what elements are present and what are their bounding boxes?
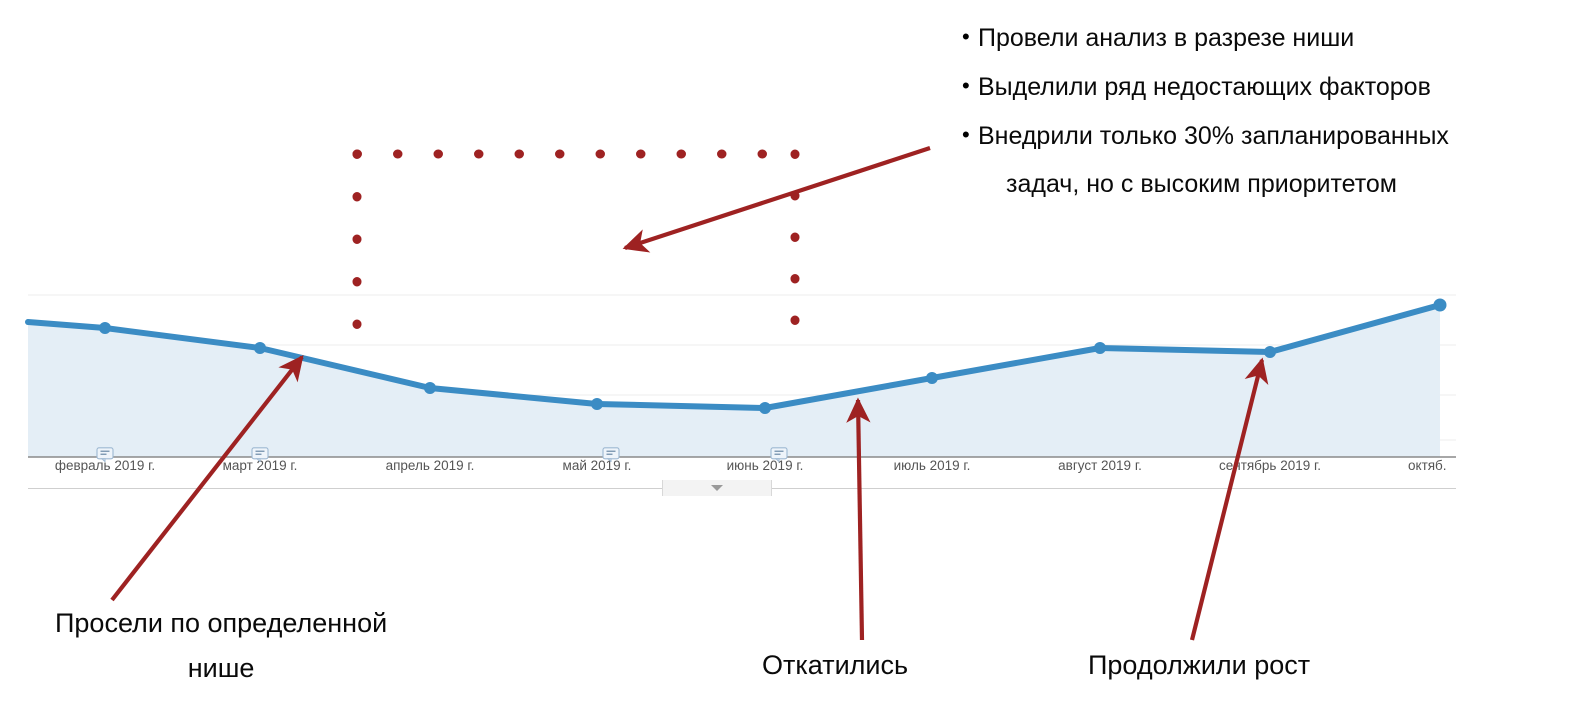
- caption-left-line2: нише: [55, 653, 387, 684]
- bullet-dot-icon: •: [962, 22, 978, 52]
- comment-marker-icon[interactable]: [602, 447, 621, 462]
- comment-marker-icon[interactable]: [96, 447, 115, 462]
- axis-tick-label-september: сентябрь 2019 г.: [1219, 458, 1321, 473]
- bullet-text-wrap: Внедрили только 30% запланированных зада…: [978, 120, 1449, 200]
- bullet-text: Внедрили только 30% запланированных: [978, 122, 1449, 150]
- bullet-text: Выделили ряд недостающих факторов: [978, 71, 1431, 103]
- arrow-to-bracket: [625, 148, 930, 248]
- data-point[interactable]: [1434, 299, 1447, 312]
- slide-root: • Провели анализ в разрезе ниши • Выдели…: [0, 0, 1570, 725]
- caption-middle: Откатились: [762, 650, 908, 681]
- axis-tick-label-july: июль 2019 г.: [894, 458, 971, 473]
- axis-tick-label-august: август 2019 г.: [1058, 458, 1142, 473]
- comment-marker-icon[interactable]: [251, 447, 270, 462]
- comment-marker-icon[interactable]: [770, 447, 789, 462]
- axis-tick-label-october: октяб.: [1408, 458, 1447, 473]
- bullet-list: • Провели анализ в разрезе ниши • Выдели…: [962, 22, 1562, 217]
- bullet-dot-icon: •: [962, 71, 978, 101]
- list-item: • Внедрили только 30% запланированных за…: [962, 120, 1562, 200]
- data-point[interactable]: [759, 402, 771, 414]
- bullet-text-line2: задач, но с высоким приоритетом: [1006, 168, 1449, 200]
- chevron-down-icon: [711, 485, 723, 491]
- axis-tick-label-june: июнь 2019 г.: [727, 458, 804, 473]
- range-slider-handle[interactable]: [662, 480, 772, 496]
- data-point[interactable]: [424, 382, 436, 394]
- axis-tick-label-april: апрель 2019 г.: [386, 458, 475, 473]
- caption-left: Просели по определенной нише: [55, 608, 387, 684]
- caption-left-line1: Просели по определенной: [55, 608, 387, 638]
- data-point[interactable]: [1094, 342, 1106, 354]
- bullet-dot-icon: •: [962, 120, 978, 150]
- axis-tick-label-may: май 2019 г.: [563, 458, 632, 473]
- data-point[interactable]: [926, 372, 938, 384]
- data-point[interactable]: [591, 398, 603, 410]
- list-item: • Провели анализ в разрезе ниши: [962, 22, 1562, 54]
- data-point[interactable]: [254, 342, 266, 354]
- data-point[interactable]: [1264, 346, 1276, 358]
- bullet-text: Провели анализ в разрезе ниши: [978, 22, 1354, 54]
- data-point[interactable]: [99, 322, 111, 334]
- list-item: • Выделили ряд недостающих факторов: [962, 71, 1562, 103]
- caption-right: Продолжили рост: [1088, 650, 1310, 681]
